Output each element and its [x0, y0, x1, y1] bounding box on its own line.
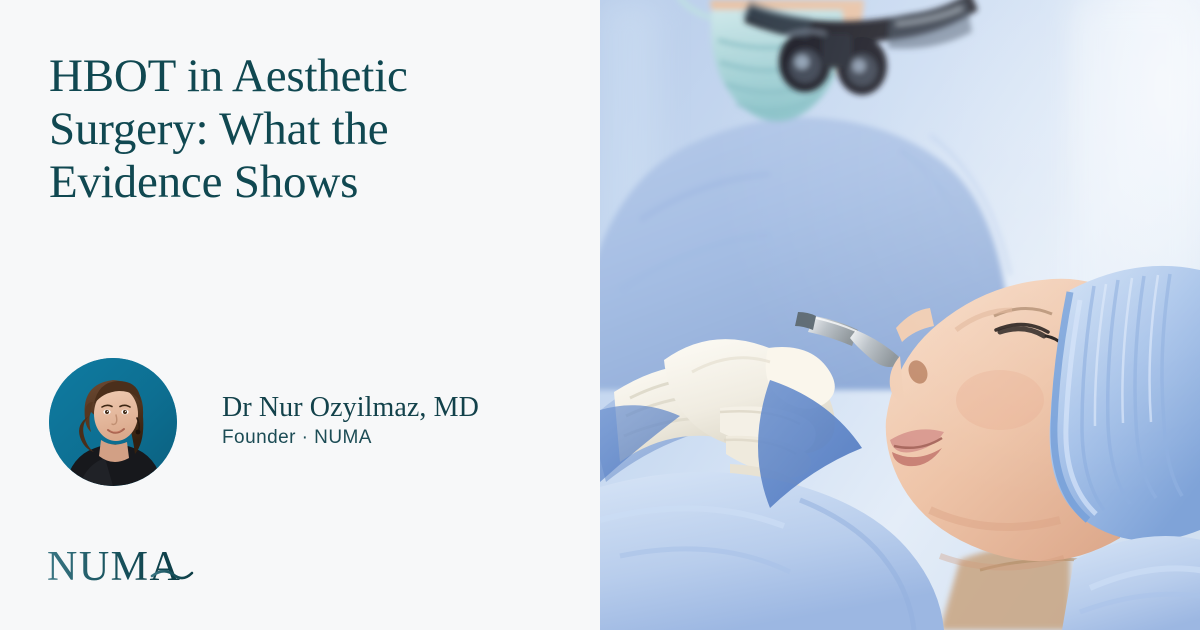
content-panel: HBOT in Aesthetic Surgery: What the Evid…: [0, 0, 600, 630]
operating-room-photo: [600, 0, 1200, 630]
svg-text:NUMA: NUMA: [47, 544, 181, 590]
brand-logo: NUMA: [47, 543, 237, 593]
author-role: Founder · NUMA: [222, 425, 479, 451]
hero-image: [600, 0, 1200, 630]
author-text-block: Dr Nur Ozyilmaz, MD Founder · NUMA: [222, 391, 479, 453]
page-title: HBOT in Aesthetic Surgery: What the Evid…: [49, 50, 549, 209]
social-share-card: HBOT in Aesthetic Surgery: What the Evid…: [0, 0, 1200, 630]
avatar: [49, 358, 177, 486]
numa-wordmark-icon: NUMA: [47, 543, 237, 593]
avatar-portrait-icon: [49, 358, 177, 486]
author-byline: Dr Nur Ozyilmaz, MD Founder · NUMA: [49, 358, 479, 486]
author-name: Dr Nur Ozyilmaz, MD: [222, 391, 479, 425]
